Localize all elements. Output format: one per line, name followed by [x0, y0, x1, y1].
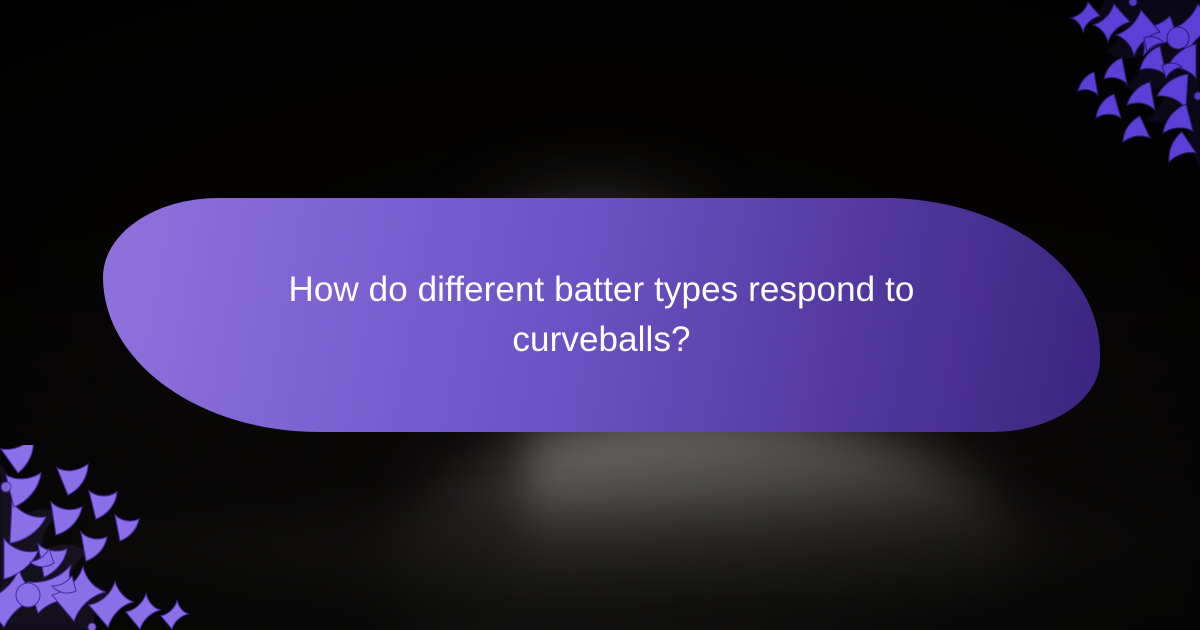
banner-title-text: How do different batter types respond to…: [222, 265, 982, 364]
title-banner: How do different batter types respond to…: [103, 198, 1100, 432]
social-card: How do different batter types respond to…: [0, 0, 1200, 630]
